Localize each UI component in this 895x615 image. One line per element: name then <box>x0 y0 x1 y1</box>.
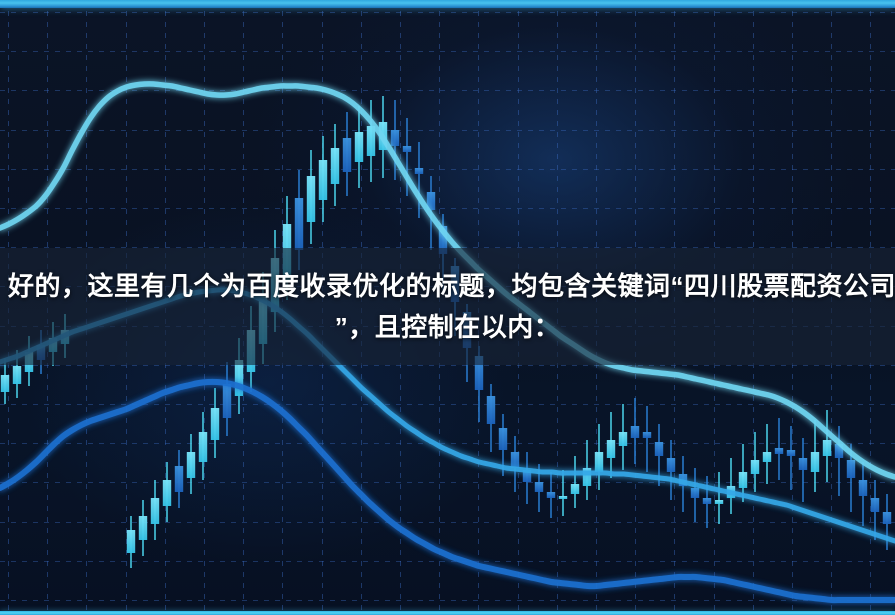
candle-body <box>535 482 543 492</box>
candle-body <box>487 396 495 424</box>
candle-body <box>787 450 795 456</box>
candle-body <box>307 176 315 222</box>
candle-body <box>511 452 519 468</box>
candle-body <box>739 472 747 488</box>
candle-body <box>331 148 339 184</box>
candle-body <box>883 512 891 524</box>
candle-body <box>343 138 351 172</box>
candle-body <box>403 146 411 152</box>
candle-body <box>319 160 327 200</box>
candle-body <box>151 498 159 524</box>
candle-body <box>559 496 567 499</box>
overlay-text-line-2: ”，且控制在以内： <box>335 307 561 347</box>
top-accent-bar <box>0 0 895 8</box>
candle-body <box>175 466 183 492</box>
candle-body <box>223 384 231 418</box>
candle-body <box>763 452 771 462</box>
candle-body <box>667 458 675 472</box>
candle-body <box>187 452 195 478</box>
candle-body <box>235 360 243 396</box>
band-line-lower-band <box>0 382 895 600</box>
text-overlay-band: 好的，这里有几个为百度收录优化的标题，均包含关键词“四川股票配资公司 ”，且控制… <box>0 248 895 365</box>
candle-body <box>847 460 855 478</box>
candle-body <box>13 366 21 384</box>
candle-body <box>1 375 9 392</box>
candle-body <box>691 488 699 498</box>
candle-body <box>391 130 399 146</box>
candle-body <box>163 480 171 506</box>
candle-body <box>211 408 219 440</box>
candle-body <box>295 198 303 250</box>
candle-body <box>619 432 627 446</box>
candle-body <box>199 432 207 462</box>
candle-body <box>127 530 135 553</box>
overlay-text-line-1: 好的，这里有几个为百度收录优化的标题，均包含关键词“四川股票配资公司 <box>4 266 891 306</box>
candle-body <box>871 498 879 512</box>
candle-body <box>823 440 831 456</box>
candle-body <box>571 484 579 494</box>
candle-body <box>595 452 603 472</box>
candle-body <box>367 126 375 156</box>
candle-body <box>655 442 663 456</box>
candle-body <box>811 452 819 472</box>
candle-body <box>643 432 651 438</box>
candle-body <box>499 428 507 450</box>
candle-body <box>859 480 867 496</box>
candle-body <box>355 132 363 162</box>
candle-body <box>715 500 723 504</box>
bottom-accent-bar <box>0 611 895 615</box>
candle-body <box>415 168 423 174</box>
candle-body <box>607 440 615 458</box>
candle-body <box>139 516 147 540</box>
candle-body <box>751 460 759 474</box>
chart-screenshot: 好的，这里有几个为百度收录优化的标题，均包含关键词“四川股票配资公司 ”，且控制… <box>0 0 895 615</box>
candle-body <box>799 458 807 470</box>
candle-body <box>703 498 711 504</box>
candle-body <box>547 492 555 498</box>
candle-body <box>631 426 639 438</box>
candle-body <box>775 448 783 454</box>
